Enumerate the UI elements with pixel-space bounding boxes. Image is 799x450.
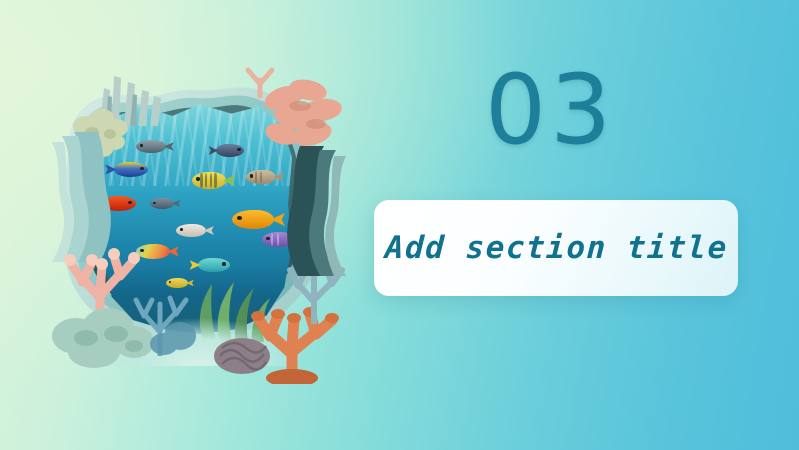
fish-navy-topright [216, 144, 244, 157]
fish-yellow-stripe [192, 172, 226, 189]
slide-canvas: 03 Add section title [0, 0, 799, 450]
section-title-text[interactable]: Add section title [384, 230, 729, 266]
fish-tan-stripe [246, 170, 276, 184]
coral-salmon-small-top [236, 62, 284, 98]
section-title-box[interactable]: Add section title [374, 200, 738, 296]
fish-steel-small [150, 198, 174, 209]
paper-drape-right [284, 146, 350, 276]
section-number: 03 [485, 62, 615, 158]
fish-gold-large [232, 210, 274, 229]
underwater-reef-illustration [40, 62, 352, 358]
fish-grey-top [136, 140, 166, 153]
fish-cyan-yellow [198, 258, 230, 272]
fish-pale-silver [176, 224, 206, 237]
fish-blue-yellow [114, 162, 148, 177]
coral-blue-branch-bottom [122, 286, 198, 356]
